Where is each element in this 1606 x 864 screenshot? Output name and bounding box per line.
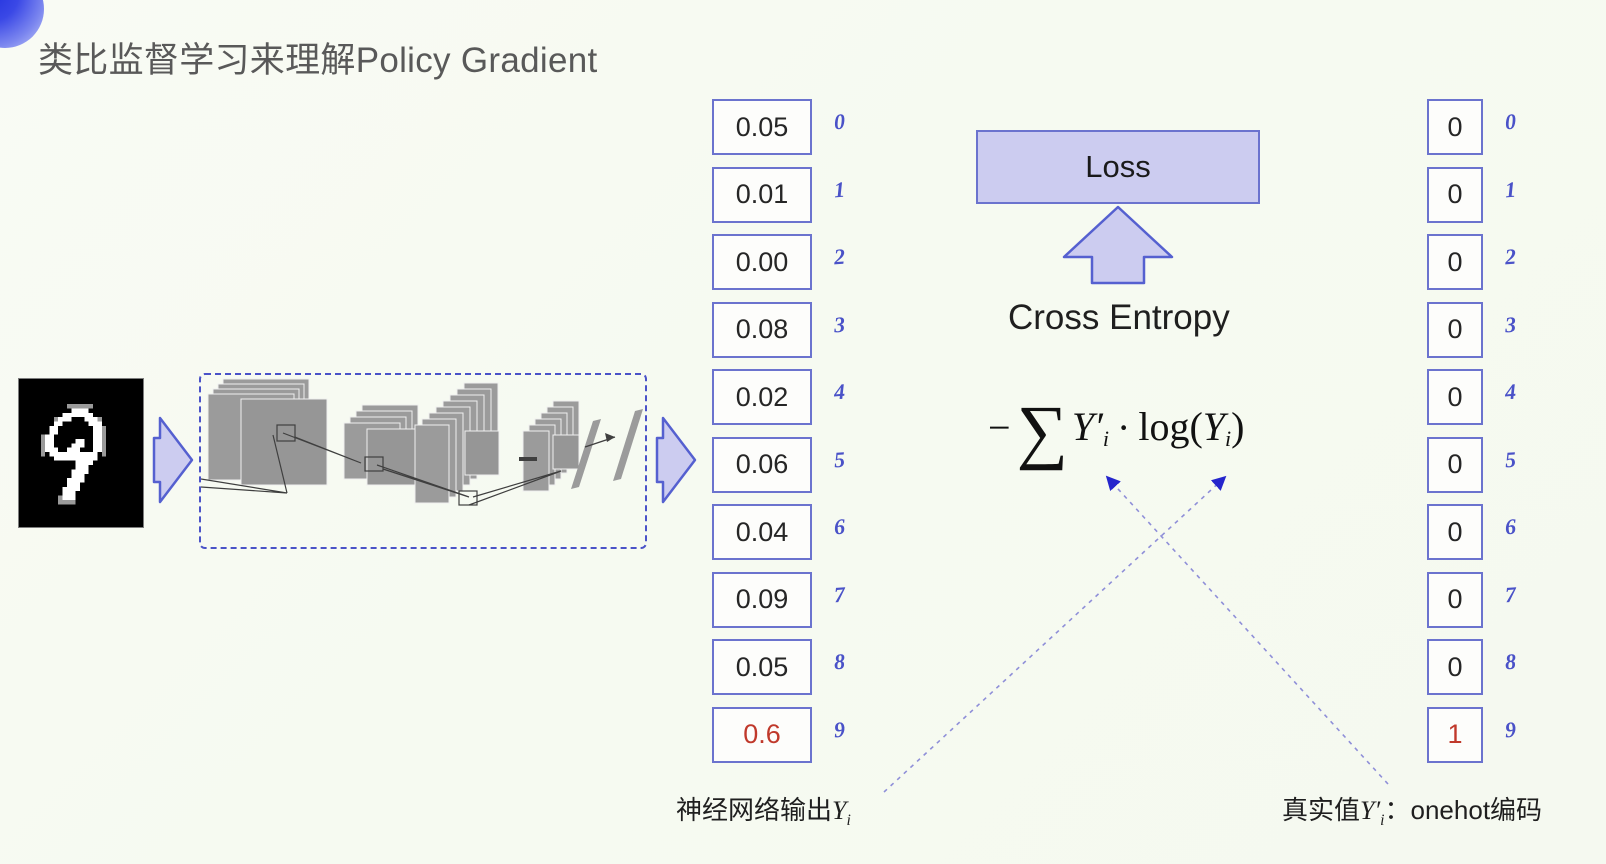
groundtruth-index-label: 1 [1504,176,1517,203]
prediction-index-label: 6 [833,514,846,541]
groundtruth-cell: 0 [1427,167,1483,223]
groundtruth-caption-text: 真实值 [1282,795,1360,825]
groundtruth-caption: 真实值Y′i：onehot编码 [1282,790,1542,830]
arrow-network-to-output-icon [655,400,701,520]
prediction-cell: 0.06 [712,437,812,493]
groundtruth-index-label: 4 [1504,379,1517,406]
groundtruth-cell: 0 [1427,437,1483,493]
groundtruth-cell: 0 [1427,504,1483,560]
groundtruth-index-label: 5 [1504,446,1517,473]
groundtruth-index-label: 7 [1504,581,1517,608]
formula-dot: · [1117,404,1130,451]
groundtruth-caption-var: Y [1360,796,1374,825]
prediction-cell: 0.05 [712,639,812,695]
groundtruth-cell: 0 [1427,572,1483,628]
cnn-network-container [199,373,647,549]
groundtruth-cell: 1 [1427,707,1483,763]
prediction-index-label: 8 [833,649,846,676]
prediction-cell: 0.09 [712,572,812,628]
groundtruth-cell: 0 [1427,369,1483,425]
prediction-index-label: 9 [833,716,846,743]
prediction-cell: 0.01 [712,167,812,223]
prediction-cell: 0.6 [712,707,812,763]
groundtruth-index-label: 8 [1504,649,1517,676]
groundtruth-cell: 0 [1427,234,1483,290]
cross-entropy-label: Cross Entropy [1008,298,1230,338]
arrow-input-to-network-icon [152,400,198,520]
formula-minus: − [988,404,1011,451]
groundtruth-cell: 0 [1427,639,1483,695]
groundtruth-index-label: 6 [1504,514,1517,541]
prediction-cell: 0.00 [712,234,812,290]
groundtruth-index-label: 9 [1504,716,1517,743]
prediction-index-label: 4 [833,379,846,406]
prediction-cell: 0.02 [712,369,812,425]
prediction-index-label: 7 [833,581,846,608]
groundtruth-index-label: 2 [1504,244,1517,271]
prediction-cell: 0.08 [712,302,812,358]
pointer-line-prediction [884,478,1224,792]
prediction-caption-var: Y [832,796,846,825]
mnist-digit-image [18,378,144,528]
arrow-up-to-loss-icon [1058,205,1178,285]
prediction-index-label: 2 [833,244,846,271]
digit-9-glyph [19,379,141,525]
groundtruth-cell: 0 [1427,99,1483,155]
prediction-index-label: 5 [833,446,846,473]
prediction-caption-sub: i [846,812,850,829]
prediction-caption: 神经网络输出Yi [676,790,851,830]
prediction-cell: 0.04 [712,504,812,560]
cnn-layers-diagram [201,375,645,547]
groundtruth-index-label: 3 [1504,311,1517,338]
cross-entropy-formula: − ∑ Y′i · log(Yi) [988,398,1244,457]
groundtruth-cell: 0 [1427,302,1483,358]
formula-sigma: ∑ [1017,402,1068,461]
prediction-index-label: 1 [833,176,846,203]
prediction-cell: 0.05 [712,99,812,155]
groundtruth-index-label: 0 [1504,109,1517,136]
page-title: 类比监督学习来理解Policy Gradient [38,32,598,83]
prediction-caption-text: 神经网络输出 [676,795,832,825]
prediction-index-label: 0 [833,109,846,136]
prediction-index-label: 3 [833,311,846,338]
formula-y-true: Y′i [1072,403,1109,452]
formula-log: log(Yi) [1138,403,1244,452]
slide-canvas: 类比监督学习来理解Policy Gradient [0,0,1606,864]
pointer-line-groundtruth [1108,478,1388,784]
groundtruth-caption-suffix: ：onehot编码 [1385,795,1543,825]
loss-box: Loss [976,130,1260,204]
